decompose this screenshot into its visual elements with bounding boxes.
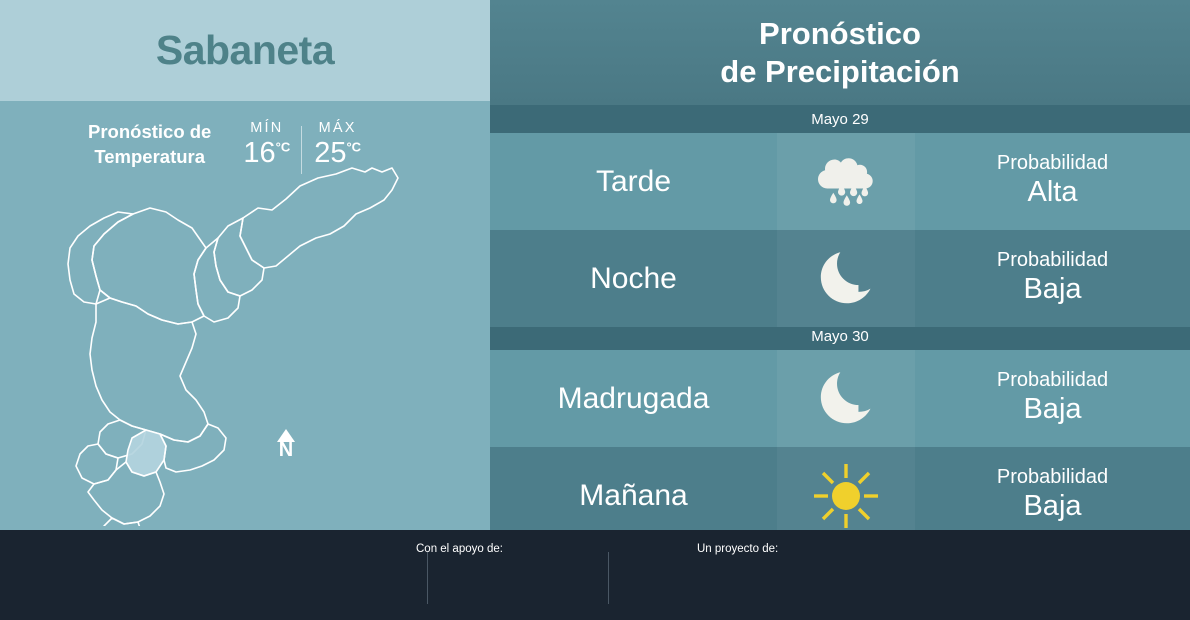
period-label: Madrugada (490, 350, 777, 447)
footer-divider (427, 552, 428, 604)
forecast-row[interactable]: Madrugada Probabilidad Baja (490, 350, 1190, 447)
max-unit: °C (346, 139, 361, 154)
probability-value: Baja (1023, 391, 1081, 427)
forecast-title-line2: de Precipitación (720, 53, 959, 91)
footer-caption-project: Un proyecto de: (697, 543, 778, 555)
moon-icon (777, 230, 915, 327)
date-band-mayo-29: Mayo 29 (490, 105, 1190, 133)
min-unit: °C (276, 139, 291, 154)
forecast-panel: Pronóstico de Precipitación Mayo 29 Mayo… (490, 0, 1190, 530)
probability-caption: Probabilidad (997, 369, 1108, 391)
infographic-root: Sabaneta Pronóstico de Temperatura MÍN 1… (0, 0, 1190, 620)
probability-caption: Probabilidad (997, 466, 1108, 488)
forecast-title-line1: Pronóstico (759, 15, 921, 53)
period-label: Tarde (490, 133, 777, 230)
city-header: Sabaneta (0, 0, 490, 101)
moon-icon (777, 350, 915, 447)
temperature-label-line1: Pronóstico de (88, 121, 211, 142)
footer: Con el apoyo de: Un proyecto de: SIATA e… (0, 530, 1190, 620)
compass-rose: N (277, 429, 295, 460)
temperature-min-caption: MÍN (243, 120, 290, 136)
compass-north-label: N (277, 441, 295, 460)
probability-caption: Probabilidad (997, 152, 1108, 174)
forecast-title: Pronóstico de Precipitación (490, 0, 1190, 105)
probability-caption: Probabilidad (997, 249, 1108, 271)
probability-cell: Probabilidad Baja (915, 230, 1190, 327)
footer-caption-support: Con el apoyo de: (416, 543, 503, 555)
city-name: Sabaneta (156, 27, 334, 74)
probability-value: Baja (1023, 271, 1081, 307)
period-label: Noche (490, 230, 777, 327)
probability-cell: Probabilidad Baja (915, 350, 1190, 447)
left-panel: Sabaneta Pronóstico de Temperatura MÍN 1… (0, 0, 490, 530)
probability-value: Baja (1023, 488, 1081, 524)
probability-cell: Probabilidad Alta (915, 133, 1190, 230)
rain-cloud-icon (777, 133, 915, 230)
forecast-row[interactable]: Noche Probabilidad Baja (490, 230, 1190, 327)
map-panel: Pronóstico de Temperatura MÍN 16°C MÁX 2… (0, 101, 490, 530)
temperature-max-caption: MÁX (314, 120, 361, 136)
probability-value: Alta (1028, 174, 1078, 210)
aburra-valley-map (0, 156, 490, 526)
forecast-row[interactable]: Tarde Probabilidad Alta (490, 133, 1190, 230)
footer-divider (608, 552, 609, 604)
